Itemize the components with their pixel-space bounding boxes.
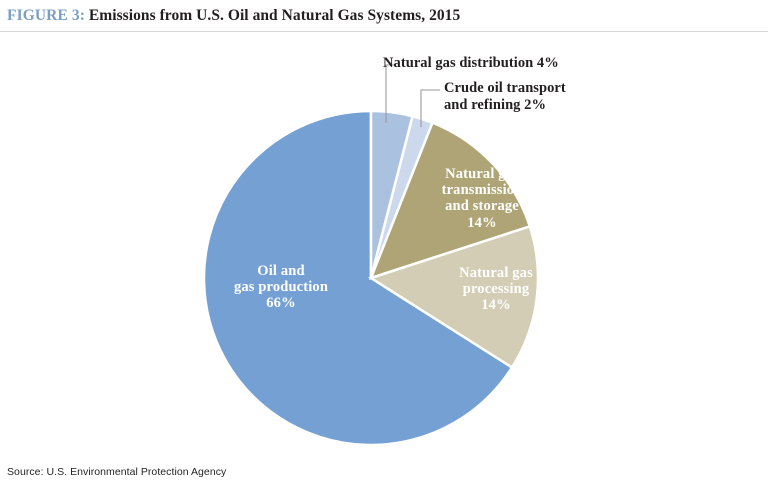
title-divider (0, 31, 768, 32)
source-note: Source: U.S. Environmental Protection Ag… (7, 466, 226, 478)
pie-chart: Oil and gas production 66% Natural gas t… (0, 33, 768, 461)
page-title: Emissions from U.S. Oil and Natural Gas … (85, 7, 460, 25)
pie-chart-svg (0, 33, 768, 461)
callout-label-natural-gas-distribution: Natural gas distribution 4% (383, 55, 559, 72)
callout-label-crude-oil-transport: Crude oil transport and refining 2% (444, 80, 566, 114)
figure-header: FIGURE 3: Emissions from U.S. Oil and Na… (0, 0, 768, 32)
figure-number-label: FIGURE 3: (7, 7, 85, 25)
